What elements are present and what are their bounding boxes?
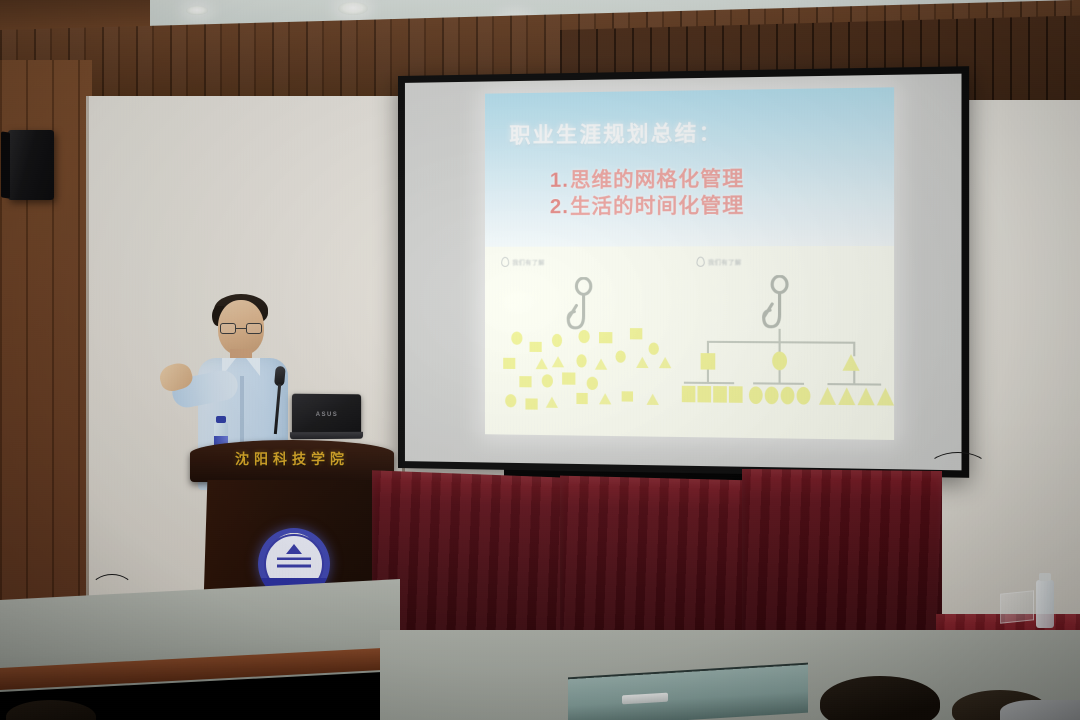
tree-connector: [779, 329, 781, 341]
water-bottle-table: [1036, 580, 1054, 628]
diagram-tree: 我们有了解: [688, 256, 885, 440]
shape-triangle: [552, 356, 564, 367]
shape-triangle: [536, 358, 548, 369]
bottle-cap: [1039, 573, 1051, 581]
slide-title: 职业生涯规划总结：: [509, 117, 722, 150]
shape-triangle: [819, 387, 836, 405]
shape-circle: [511, 332, 522, 345]
shape-square: [697, 386, 711, 403]
tree-connector: [753, 382, 804, 385]
shape-triangle: [599, 393, 611, 404]
acrylic-nameplate-holder: [1000, 590, 1034, 624]
shape-circle: [772, 352, 787, 371]
podium-top: 沈阳科技学院: [190, 440, 394, 482]
shape-circle: [649, 343, 659, 355]
shape-triangle: [877, 388, 894, 406]
shape-square: [622, 391, 633, 401]
shape-square: [599, 332, 612, 343]
shape-square: [713, 386, 727, 403]
lecture-hall-photo: 职业生涯规划总结： 1.思维的网格化管理 2.生活的时间化管理 我们有了解: [0, 0, 1080, 720]
shape-triangle: [646, 394, 658, 405]
glasses-icon: [220, 323, 262, 334]
screen-surface: 职业生涯规划总结： 1.思维的网格化管理 2.生活的时间化管理 我们有了解: [405, 74, 962, 471]
diagram-label-text: 我们有了解: [708, 257, 742, 266]
shape-circle: [505, 394, 516, 407]
laptop-base: [290, 432, 363, 440]
draped-table: [742, 469, 942, 649]
shape-square: [530, 342, 542, 352]
shape-square: [701, 353, 716, 370]
bullet-number: 2.: [550, 196, 569, 218]
bullet-text: 生活的时间化管理: [570, 195, 744, 218]
emblem-symbol: [277, 552, 311, 576]
shape-circle: [781, 387, 795, 405]
tree-connector: [707, 341, 855, 344]
shape-circle: [797, 387, 811, 405]
bullet-number: 1.: [550, 169, 569, 191]
shape-circle: [765, 387, 779, 405]
shape-triangle: [838, 387, 855, 405]
podium-institution-name: 沈阳科技学院: [190, 449, 394, 469]
audience-head: [6, 700, 96, 720]
wall-speaker-icon: [8, 130, 54, 200]
shape-triangle: [595, 358, 607, 369]
ceiling-downlight: [186, 6, 208, 15]
diagram-label: 我们有了解: [696, 257, 741, 267]
slide-bullet-list: 1.思维的网格化管理 2.生活的时间化管理: [550, 165, 864, 221]
shape-circle: [578, 330, 589, 343]
tree-connector: [707, 370, 709, 382]
diagram-label-text: 我们有了解: [512, 257, 545, 266]
laptop-brand-logo: ASUS: [316, 412, 338, 418]
tree-connector: [827, 383, 881, 386]
shape-triangle: [636, 357, 648, 368]
shape-triangle: [857, 387, 874, 405]
location-pin-icon: [696, 257, 704, 267]
shape-square: [630, 328, 642, 339]
shape-square: [576, 393, 587, 404]
shape-square: [729, 386, 743, 403]
tree-connector: [779, 370, 781, 382]
laptop: ASUS: [290, 394, 363, 443]
shape-square: [682, 386, 696, 403]
diagram-scattered: 我们有了解: [493, 257, 684, 437]
wall-seam: [86, 96, 89, 652]
shape-circle: [542, 374, 553, 387]
shape-triangle: [659, 357, 671, 368]
tree-connector: [853, 371, 855, 383]
shape-square: [503, 358, 515, 369]
shape-circle: [552, 334, 562, 347]
ceiling-downlight: [338, 2, 368, 15]
shape-circle: [587, 377, 598, 390]
projected-slide: 职业生涯规划总结： 1.思维的网格化管理 2.生活的时间化管理 我们有了解: [485, 87, 894, 440]
shape-square: [525, 398, 537, 409]
slide-bullet-item: 2.生活的时间化管理: [550, 192, 864, 221]
shape-square: [519, 376, 531, 387]
fishhook-icon: [762, 275, 798, 335]
diagram-label: 我们有了解: [501, 257, 545, 267]
shape-circle: [576, 354, 586, 367]
shape-square: [562, 372, 575, 384]
shape-circle: [615, 350, 625, 362]
location-pin-icon: [501, 257, 509, 267]
shape-circle: [749, 386, 763, 404]
shape-triangle: [546, 397, 558, 408]
bottle-cap: [216, 416, 226, 423]
slide-bullet-item: 1.思维的网格化管理: [550, 165, 864, 195]
bullet-text: 思维的网格化管理: [570, 168, 744, 192]
tree-connector: [684, 382, 734, 385]
draped-table: [560, 476, 750, 653]
laptop-lid: ASUS: [292, 394, 361, 435]
shape-triangle: [842, 354, 859, 371]
cable: [928, 452, 988, 476]
projection-screen: 职业生涯规划总结： 1.思维的网格化管理 2.生活的时间化管理 我们有了解: [398, 66, 969, 478]
audience-shoulder: [1000, 700, 1080, 720]
fishhook-icon: [566, 277, 601, 336]
draped-table: [372, 470, 568, 648]
